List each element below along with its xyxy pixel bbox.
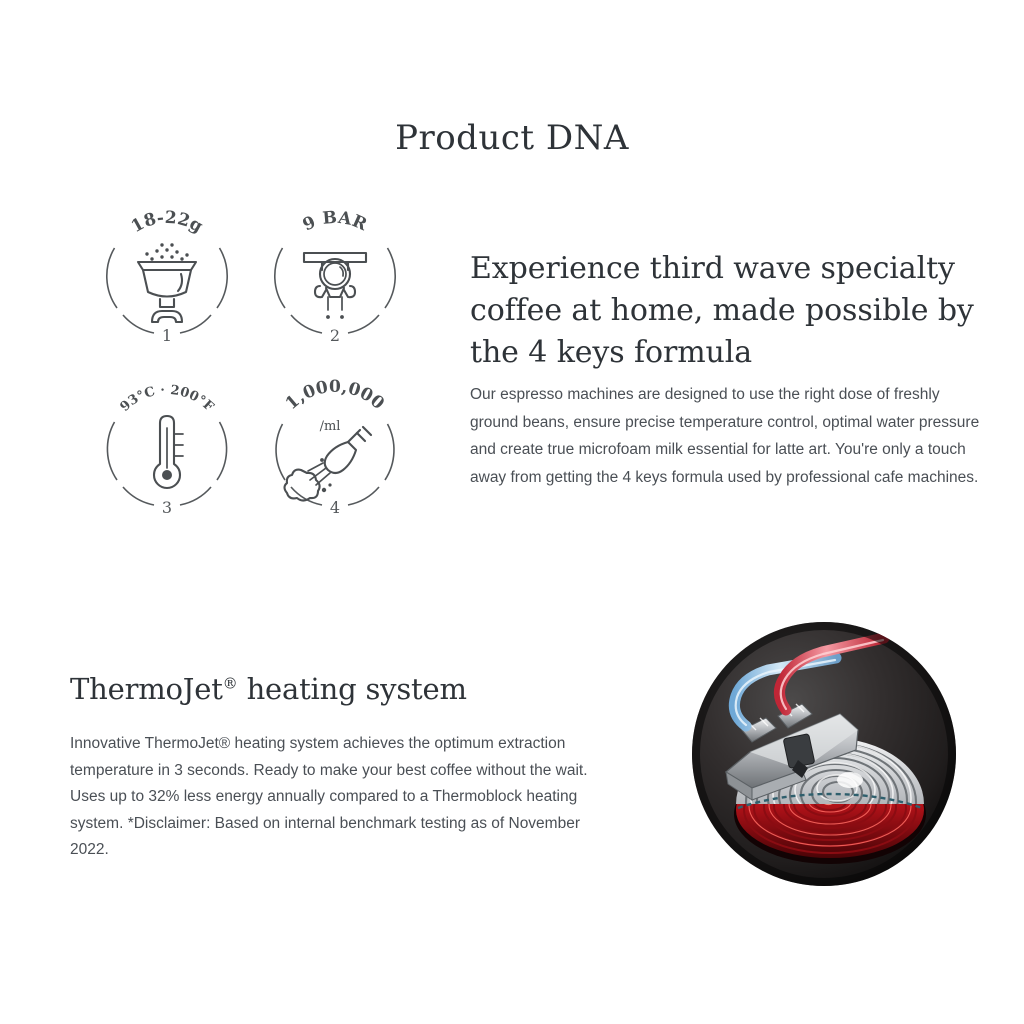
badge-ring bbox=[180, 487, 211, 505]
thermometer-icon bbox=[154, 416, 183, 488]
group-head-extraction-icon bbox=[304, 253, 366, 319]
thermojet-title-tail: heating system bbox=[238, 672, 467, 706]
badge-ring bbox=[180, 315, 211, 333]
key-badge-microfoam: 1,000,000 /ml 4 bbox=[260, 372, 410, 534]
badge-ring bbox=[276, 424, 285, 480]
badge-ring bbox=[123, 487, 154, 505]
badge-ring bbox=[348, 487, 379, 505]
page-title: Product DNA bbox=[0, 118, 1024, 158]
badge-sub-label: /ml bbox=[320, 419, 341, 434]
thermojet-title: ThermoJet® heating system bbox=[70, 672, 467, 706]
badge-ring bbox=[291, 315, 322, 333]
thermojet-title-main: ThermoJet bbox=[70, 672, 223, 706]
badge-number: 4 bbox=[330, 498, 340, 517]
key-badge-dose: 18-22g bbox=[92, 200, 242, 362]
badge-arc-label: 9 BAR bbox=[300, 208, 371, 236]
portafilter-basket-icon bbox=[138, 243, 196, 322]
badge-number: 1 bbox=[162, 326, 172, 345]
badge-arc-label: 18-22g bbox=[128, 208, 206, 237]
badge-ring bbox=[385, 248, 395, 308]
badge-arc-label: 93°C · 200°F bbox=[118, 383, 217, 415]
intro-paragraph: Our espresso machines are designed to us… bbox=[470, 381, 980, 491]
badge-ring bbox=[107, 422, 117, 480]
registered-mark-icon: ® bbox=[223, 674, 238, 692]
badge-ring bbox=[217, 422, 227, 480]
thermojet-paragraph: Innovative ThermoJet® heating system ach… bbox=[70, 731, 615, 864]
badge-ring bbox=[107, 248, 117, 308]
key-badge-pressure: 9 BAR 2 bbox=[260, 200, 410, 362]
product-dna-page: Product DNA 18-22g bbox=[0, 0, 1024, 1024]
intro-headline: Experience third wave specialty coffee a… bbox=[470, 248, 980, 374]
badge-ring bbox=[275, 248, 285, 308]
badge-ring bbox=[217, 248, 227, 308]
badge-ring bbox=[348, 315, 379, 333]
steam-wand-microfoam-icon bbox=[285, 427, 372, 501]
badge-number: 3 bbox=[162, 498, 172, 517]
thermojet-heating-element-render bbox=[690, 618, 958, 892]
badge-ring bbox=[385, 424, 394, 480]
four-keys-badge-grid: 18-22g bbox=[92, 200, 422, 555]
badge-number: 2 bbox=[330, 326, 340, 345]
badge-ring bbox=[123, 315, 154, 333]
badge-arc-label: 1,000,000 bbox=[282, 377, 388, 414]
key-badge-temperature: 93°C · 200°F 3 bbox=[92, 372, 242, 534]
